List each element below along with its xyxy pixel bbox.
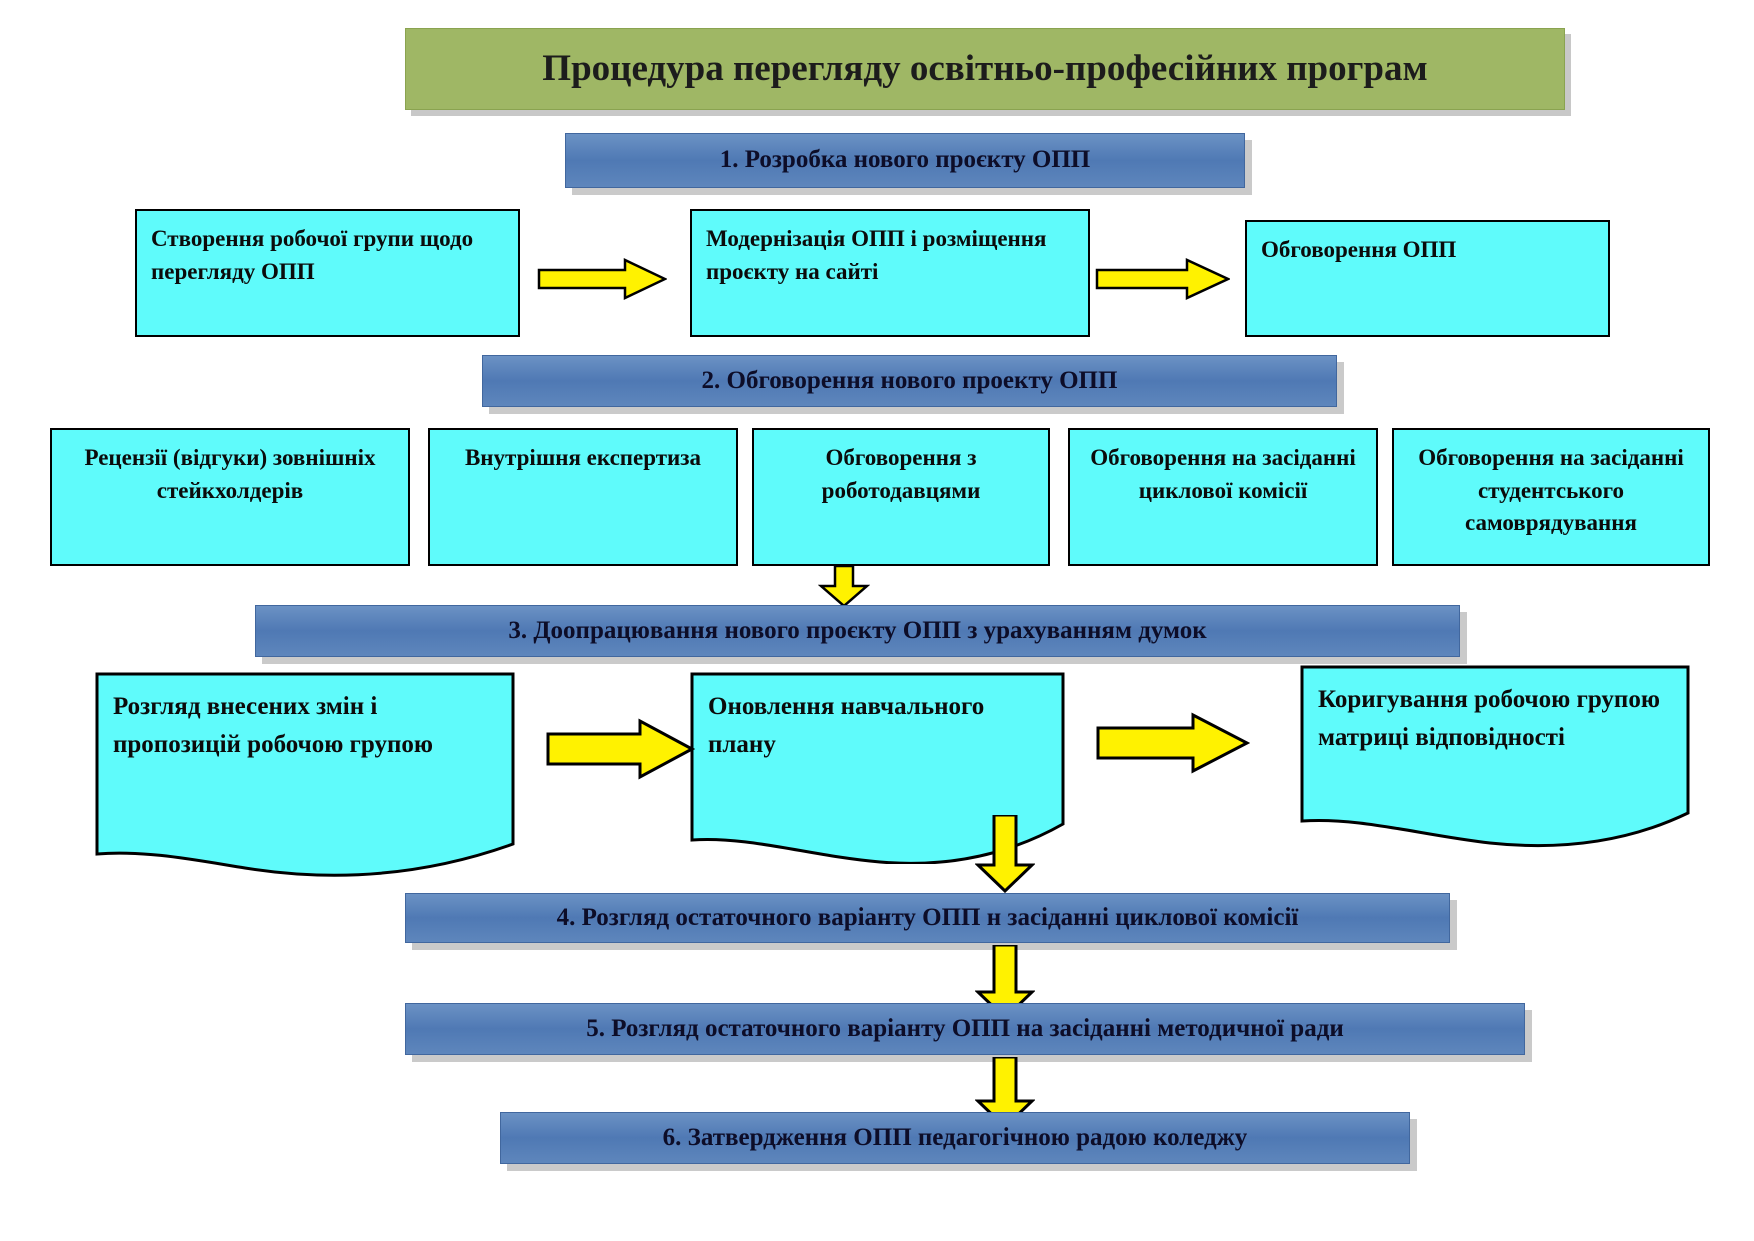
process-box-student-council-discussion: Обговорення на засіданні студентського с… (1392, 428, 1710, 566)
stage-bar-1: 1. Розробка нового проєкту ОПП (565, 133, 1245, 188)
process-box-modernize-opp: Модернізація ОПП і розміщення проєкту на… (690, 209, 1090, 337)
arrow-right-4 (1095, 712, 1250, 774)
process-box-label: Внутрішня експертиза (444, 442, 722, 475)
process-box-label: Створення робочої групи щодо перегляду О… (151, 223, 504, 288)
process-box-label: Модернізація ОПП і розміщення проєкту на… (706, 223, 1074, 288)
stage-bar-5-label: 5. Розгляд остаточного варіанту ОПП на з… (586, 1016, 1344, 1042)
process-box-discussion-opp: Обговорення ОПП (1245, 220, 1610, 337)
process-box-create-working-group: Створення робочої групи щодо перегляду О… (135, 209, 520, 337)
stage-bar-4-label: 4. Розгляд остаточного варіанту ОПП н за… (557, 905, 1299, 931)
arrow-right-2 (1095, 258, 1230, 300)
flowchart-canvas: Процедура перегляду освітньо-професійних… (0, 0, 1754, 1241)
stage-bar-5: 5. Розгляд остаточного варіанту ОПП на з… (405, 1003, 1525, 1055)
stage-bar-6-label: 6. Затвердження ОПП педагогічною радою к… (663, 1125, 1248, 1151)
stage-bar-3-label: 3. Доопрацювання нового проєкту ОПП з ур… (508, 618, 1206, 644)
stage-bar-2: 2. Обговорення нового проекту ОПП (482, 355, 1337, 407)
arrow-down-to-stage-4 (975, 815, 1035, 893)
arrow-right-1 (537, 258, 667, 300)
process-box-label: Обговорення ОПП (1261, 234, 1594, 267)
process-box-external-reviews: Рецензії (відгуки) зовнішніх стейкхолдер… (50, 428, 410, 566)
process-box-label: Рецензії (відгуки) зовнішніх стейкхолдер… (66, 442, 394, 507)
process-box-label: Обговорення на засіданні студентського с… (1408, 442, 1694, 540)
page-title: Процедура перегляду освітньо-професійних… (542, 50, 1427, 89)
stage-bar-4: 4. Розгляд остаточного варіанту ОПП н за… (405, 893, 1450, 943)
stage-bar-2-label: 2. Обговорення нового проекту ОПП (702, 368, 1118, 394)
stage-bar-1-label: 1. Розробка нового проєкту ОПП (720, 147, 1091, 173)
process-box-label: Обговорення на засіданні циклової комісі… (1084, 442, 1362, 507)
stage-bar-6: 6. Затвердження ОПП педагогічною радою к… (500, 1112, 1410, 1164)
arrow-down-to-stage-3 (818, 566, 870, 608)
arrow-right-3 (545, 718, 695, 780)
stage-bar-3: 3. Доопрацювання нового проєкту ОПП з ур… (255, 605, 1460, 657)
process-box-employer-discussion: Обговорення з роботодавцями (752, 428, 1050, 566)
process-box-label: Обговорення з роботодавцями (768, 442, 1034, 507)
diagram-title-banner: Процедура перегляду освітньо-професійних… (405, 28, 1565, 110)
process-box-adjust-matrix: Коригування робочою групою матриці відпо… (1300, 665, 1690, 850)
process-box-cycle-commission-discussion: Обговорення на засіданні циклової комісі… (1068, 428, 1378, 566)
process-box-internal-expertise: Внутрішня експертиза (428, 428, 738, 566)
process-box-review-changes: Розгляд внесених змін і пропозицій робоч… (95, 672, 515, 878)
